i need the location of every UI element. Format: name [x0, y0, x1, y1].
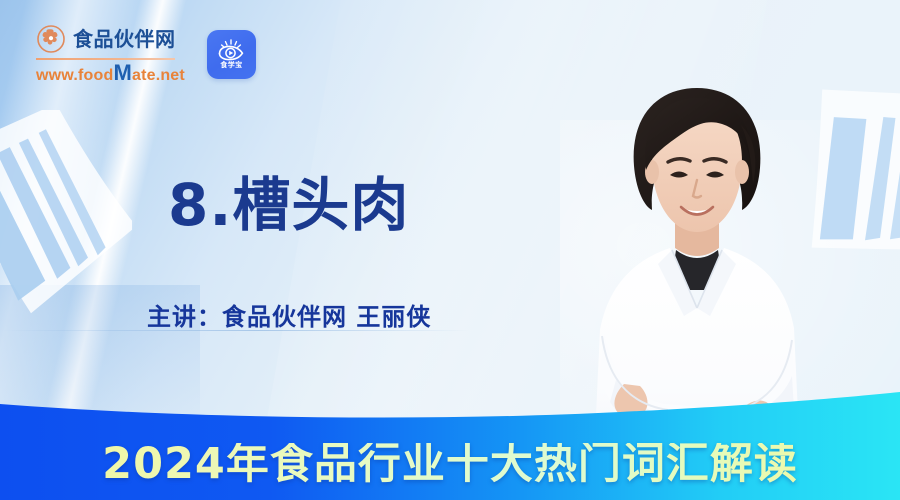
brand-header: 食品伙伴网 www.foodMate.net 食学宝 — [36, 24, 256, 84]
brand-divider — [36, 58, 175, 60]
banner-headline: 2024年食品行业十大热门词汇解读 — [0, 443, 900, 486]
slide-canvas: 食品伙伴网 www.foodMate.net 食学宝 — [0, 0, 900, 500]
foodmate-logo[interactable]: 食品伙伴网 www.foodMate.net — [36, 24, 185, 84]
eye-play-icon — [216, 39, 246, 61]
brand-url-prefix: www.food — [36, 67, 113, 84]
brand-url: www.foodMate.net — [36, 62, 185, 84]
page-title: 8.槽头肉 — [168, 176, 409, 234]
brand-url-m: M — [113, 60, 132, 85]
flower-circle-icon — [36, 24, 66, 54]
shixuebao-badge[interactable]: 食学宝 — [207, 30, 256, 79]
presenter-line: 主讲：食品伙伴网 王丽侠 — [147, 305, 431, 329]
ribbon-shape-left-icon — [0, 110, 132, 325]
badge-label: 食学宝 — [220, 62, 242, 69]
brand-name-cn: 食品伙伴网 — [73, 29, 176, 49]
bottom-banner: 2024年食品行业十大热门词汇解读 — [0, 392, 900, 500]
brand-url-suffix: ate.net — [132, 67, 185, 84]
